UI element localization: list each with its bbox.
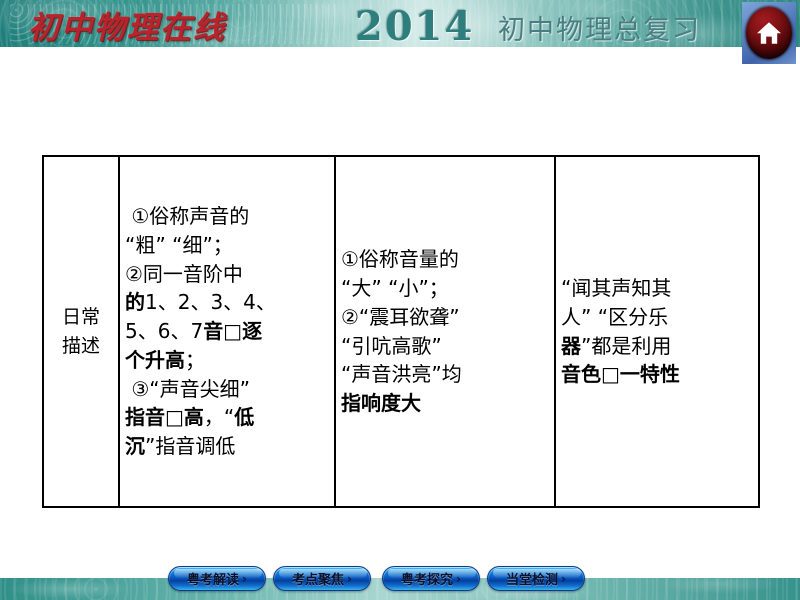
table-cell-timbre: “闻其声知其 人” “区分乐 器”都是利用 音色□一特性 [556, 157, 756, 506]
nav-button-label: 粤考探究 [401, 569, 453, 588]
table-cell-pitch: ①俗称声音的 “粗” “细”； ②同一音阶中 的1、2、3、4、 5、6、7音□… [120, 157, 336, 506]
table-cell-row-label: 日常描述 [44, 157, 120, 506]
home-button[interactable] [742, 2, 796, 64]
pitch-description-text: ①俗称声音的 “粗” “细”； ②同一音阶中 的1、2、3、4、 5、6、7音□… [125, 202, 329, 461]
nav-button-dangtang-jiance[interactable]: 当堂检测 › [487, 566, 585, 591]
sound-characteristics-table: 日常描述 ①俗称声音的 “粗” “细”； ②同一音阶中 的1、2、3、4、 5、… [42, 155, 760, 508]
nav-button-yuekao-jiedu[interactable]: 粤考解读 › [168, 566, 266, 591]
row-label-text: 日常描述 [49, 303, 113, 360]
brand-logo: 初中物理在线 [28, 4, 278, 44]
bottom-navigation: 粤考解读 › 考点聚焦 › 粤考探究 › 当堂检测 › [0, 566, 800, 594]
chevron-right-icon: › [347, 572, 352, 586]
home-button-circle [746, 7, 792, 59]
header-year: 2014 [355, 3, 474, 50]
nav-button-label: 考点聚焦 [292, 569, 344, 588]
timbre-description-text: “闻其声知其 人” “区分乐 器”都是利用 音色□一特性 [561, 274, 751, 389]
nav-button-label: 粤考解读 [187, 569, 239, 588]
chevron-right-icon: › [561, 572, 566, 586]
chevron-right-icon: › [456, 572, 461, 586]
nav-button-label: 当堂检测 [506, 569, 558, 588]
table-cell-loudness: ①俗称音量的 “大” “小”； ②“震耳欲聋” “引吭高歌” “声音洪亮”均 指… [336, 157, 556, 506]
nav-button-kaodian-jujiao[interactable]: 考点聚焦 › [273, 566, 371, 591]
slide-root: 初中物理在线 2014 初中物理总复习 日常描述 ①俗称声音的 “粗” “细”；… [0, 0, 800, 600]
chevron-right-icon: › [242, 572, 247, 586]
home-icon [756, 21, 782, 45]
loudness-description-text: ①俗称音量的 “大” “小”； ②“震耳欲聋” “引吭高歌” “声音洪亮”均 指… [341, 245, 549, 418]
nav-button-yuekao-tanjiu[interactable]: 粤考探究 › [382, 566, 480, 591]
header-title: 初中物理总复习 [498, 8, 701, 47]
